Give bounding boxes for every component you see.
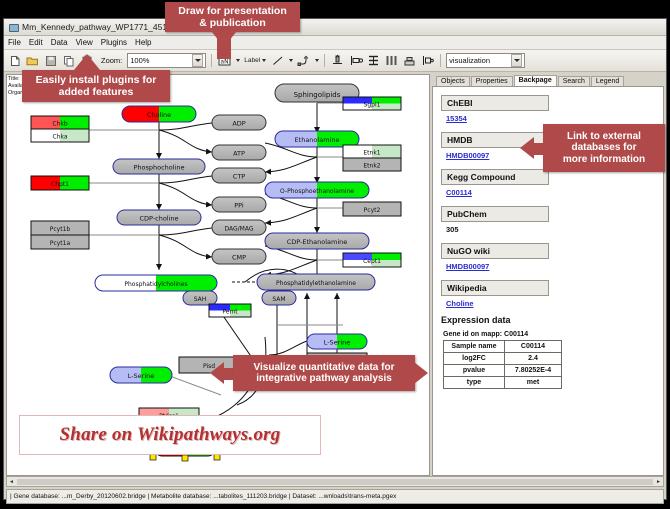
share-banner: Share on Wikipathways.org [19, 415, 321, 455]
expr-key-pvalue: pvalue [444, 365, 505, 377]
menu-item-plugins[interactable]: Plugins [101, 38, 127, 47]
visualization-value: visualization [449, 56, 490, 65]
node-adp[interactable]: ADP [212, 115, 266, 130]
node-cdp-choline[interactable]: CDP-choline [117, 210, 201, 225]
node-o-phosphoethanolamine[interactable]: O-Phosphoethanolamine [265, 182, 369, 198]
svg-text:Chpt1: Chpt1 [51, 181, 69, 188]
db-link-nugo[interactable]: HMDB00097 [446, 262, 655, 271]
open-folder-icon[interactable] [25, 53, 40, 68]
node-phosphatidylcholines[interactable]: Phosphatidylcholines [95, 275, 217, 291]
pathvisio-icon [8, 22, 18, 32]
visualization-chevron-icon[interactable] [511, 54, 522, 67]
svg-text:Phosphocholine: Phosphocholine [133, 164, 184, 172]
plugins-callout-arrow-icon [74, 54, 100, 70]
svg-text:Cept1: Cept1 [363, 258, 381, 265]
svg-text:Sgpl1: Sgpl1 [364, 102, 381, 109]
svg-text:CMP: CMP [232, 254, 246, 262]
gene-box-pcyt1b-pcyt1a[interactable]: Pcyt1b Pcyt1a [31, 221, 89, 249]
node-sam[interactable]: SAM [262, 291, 296, 305]
svg-text:Sphingolipids: Sphingolipids [294, 91, 341, 99]
save-icon[interactable] [43, 53, 58, 68]
label-tool-button[interactable]: Label [243, 57, 267, 64]
expression-data-heading: Expression data [441, 315, 655, 325]
links-callout-line2: databases for [563, 142, 645, 154]
expr-value-type: met [505, 377, 562, 389]
expr-value-pvalue: 7.80252E-4 [505, 365, 562, 377]
links-callout-line3: more information [563, 154, 645, 166]
line-tool-icon[interactable] [270, 53, 285, 68]
draw-callout: Draw for presentation & publication [165, 2, 300, 32]
stack-vertical-icon[interactable] [366, 53, 381, 68]
draw-callout-arrow-icon [211, 31, 237, 47]
table-row: log2FC 2.4 [444, 353, 562, 365]
links-callout-arrow-icon [520, 137, 534, 159]
scroll-right-icon[interactable]: ► [654, 478, 663, 485]
visualize-callout-arrow-right-icon [414, 362, 428, 384]
svg-text:Pcyt1b: Pcyt1b [50, 226, 71, 233]
zoom-value: 100% [130, 56, 149, 65]
svg-text:SAM: SAM [272, 296, 285, 303]
datanode-chevron-icon[interactable] [236, 59, 240, 62]
svg-text:PPi: PPi [234, 202, 244, 210]
plugins-callout-line1: Easily install plugins for [36, 74, 157, 86]
draw-callout-line2: & publication [178, 17, 287, 29]
zoom-label: Zoom: [101, 56, 122, 65]
menu-bar: File Edit Data View Plugins Help [4, 36, 666, 50]
menu-item-help[interactable]: Help [135, 38, 151, 47]
label-tool-text: Label [244, 57, 260, 64]
distribute-horizontal-icon[interactable] [384, 53, 399, 68]
table-row: type met [444, 377, 562, 389]
svg-text:Pcyt1a: Pcyt1a [50, 240, 71, 247]
toolbar-separator [211, 54, 212, 67]
title-bar: Mm_Kennedy_pathway_WP1771_45176.gpml [4, 19, 666, 36]
svg-text:Choline: Choline [147, 111, 171, 119]
gene-box-etnk1-etnk2[interactable]: Etnk1 Etnk2 [343, 145, 401, 171]
gene-box-chpt1[interactable]: Chpt1 [31, 176, 89, 190]
svg-text:Phosphatidylethanolamine: Phosphatidylethanolamine [276, 280, 356, 287]
canvas-hscrollbar[interactable]: ◄ ► [6, 476, 664, 487]
svg-text:L-Serine: L-Serine [128, 372, 155, 380]
svg-text:O-Phosphoethanolamine: O-Phosphoethanolamine [280, 188, 354, 195]
menu-item-view[interactable]: View [76, 38, 93, 47]
svg-text:L-Serine: L-Serine [324, 339, 351, 347]
visualize-callout-line2: integrative pathway analysis [254, 373, 395, 385]
svg-text:CTP: CTP [233, 173, 246, 181]
node-sah[interactable]: SAH [183, 291, 217, 305]
expr-key-sample-name: Sample name [444, 341, 505, 353]
menu-item-file[interactable]: File [8, 38, 21, 47]
plugins-callout-line2: added features [36, 86, 157, 98]
zoom-combobox[interactable]: 100% [127, 53, 206, 68]
pathway-canvas[interactable]: Title: Availa Organi [6, 74, 430, 476]
gene-box-sgpl1[interactable]: Sgpl1 [343, 97, 401, 110]
svg-text:ATP: ATP [233, 150, 245, 158]
node-atp[interactable]: ATP [212, 145, 266, 160]
svg-text:Pcyt2: Pcyt2 [364, 207, 381, 214]
visualize-callout-arrow-left-icon [210, 362, 224, 384]
svg-text:SAH: SAH [194, 296, 207, 303]
db-header-kegg: Kegg Compound [441, 169, 549, 185]
new-file-icon[interactable] [7, 53, 22, 68]
order-icon[interactable] [420, 53, 435, 68]
status-bar-text: | Gene database: ...m_Derby_20120602.bri… [10, 493, 396, 500]
svg-text:Etnk1: Etnk1 [363, 150, 380, 157]
db-link-kegg[interactable]: C00114 [446, 188, 655, 197]
node-ctp[interactable]: CTP [212, 168, 266, 183]
node-phosphatidylethanolamine[interactable]: Phosphatidylethanolamine [257, 274, 375, 290]
node-ppi[interactable]: PPi [212, 197, 266, 212]
svg-text:ADP: ADP [232, 120, 245, 128]
svg-text:CDP-choline: CDP-choline [139, 215, 178, 223]
svg-text:Chkb: Chkb [52, 121, 67, 128]
tab-legend[interactable]: Legend [591, 76, 624, 86]
expr-key-log2fc: log2FC [444, 353, 505, 365]
tab-objects[interactable]: Objects [436, 76, 470, 86]
db-value-pubchem: 305 [446, 225, 655, 234]
plugins-callout: Easily install plugins for added feature… [22, 70, 170, 102]
expr-value-sample-name: C00114 [505, 341, 562, 353]
toolbar-separator-3 [440, 54, 441, 67]
table-row: Sample name C00114 [444, 341, 562, 353]
svg-text:Chka: Chka [52, 134, 67, 141]
expression-table: Sample name C00114 log2FC 2.4 pvalue 7.8… [443, 340, 562, 389]
group-icon[interactable] [402, 53, 417, 68]
status-bar: | Gene database: ...m_Derby_20120602.bri… [6, 489, 664, 504]
db-link-chebi[interactable]: 15354 [446, 114, 655, 123]
db-header-wikipedia: Wikipedia [441, 280, 549, 296]
svg-text:Phosphatidylcholines: Phosphatidylcholines [124, 281, 187, 288]
expr-key-type: type [444, 377, 505, 389]
interaction-tool-icon[interactable] [296, 53, 311, 68]
share-banner-text: Share on Wikipathways.org [60, 424, 281, 446]
menu-item-edit[interactable]: Edit [29, 38, 43, 47]
node-cdp-ethanolamine[interactable]: CDP-Ethanolamine [265, 233, 369, 249]
svg-text:DAG/MAG: DAG/MAG [224, 226, 253, 233]
svg-text:Pemt: Pemt [222, 309, 238, 316]
node-l-serine-left[interactable]: L-Serine [110, 367, 172, 383]
svg-text:Ethanolamine: Ethanolamine [295, 136, 340, 144]
table-row: pvalue 7.80252E-4 [444, 365, 562, 377]
node-l-serine-right[interactable]: L-Serine [307, 334, 367, 349]
tab-backpage[interactable]: Backpage [514, 75, 557, 86]
svg-text:CDP-Ethanolamine: CDP-Ethanolamine [287, 238, 348, 246]
line-chevron-icon[interactable] [289, 59, 293, 62]
gene-box-chkb-chka[interactable]: Chkb Chka [31, 116, 89, 142]
node-dag-mag[interactable]: DAG/MAG [212, 220, 266, 235]
toolbar: Zoom: 100% aN Label [4, 50, 666, 72]
tab-search[interactable]: Search [558, 76, 590, 86]
node-cmp[interactable]: CMP [212, 249, 266, 264]
gene-box-cept1[interactable]: Cept1 [343, 253, 401, 267]
node-phosphocholine[interactable]: Phosphocholine [113, 159, 205, 174]
db-header-pubchem: PubChem [441, 206, 549, 222]
menu-item-data[interactable]: Data [51, 38, 68, 47]
tab-properties[interactable]: Properties [471, 76, 513, 86]
db-link-wikipedia[interactable]: Choline [446, 299, 655, 308]
side-panel-tabs: Objects Properties Backpage Search Legen… [432, 74, 664, 86]
draw-callout-line1: Draw for presentation [178, 5, 287, 17]
chevron-down-icon[interactable] [192, 54, 203, 67]
links-callout: Link to external databases for more info… [543, 124, 665, 172]
interaction-chevron-icon[interactable] [315, 59, 319, 62]
node-choline-top[interactable]: Choline [122, 106, 196, 122]
visualization-combobox[interactable]: visualization [446, 53, 525, 68]
scroll-left-icon[interactable]: ◄ [7, 478, 16, 485]
visualize-callout: Visualize quantitative data for integrat… [233, 355, 415, 391]
align-left-icon[interactable] [348, 53, 363, 68]
links-callout-line1: Link to external [563, 131, 645, 143]
gene-box-pcyt2[interactable]: Pcyt2 [343, 202, 401, 216]
toolbar-separator-2 [324, 54, 325, 67]
expr-value-log2fc: 2.4 [505, 353, 562, 365]
label-chevron-icon[interactable] [262, 59, 266, 62]
gene-box-pemt[interactable]: Pemt [209, 304, 251, 317]
align-top-icon[interactable] [330, 53, 345, 68]
scroll-thumb[interactable] [17, 479, 653, 485]
gene-id-on-mapp: Gene id on mapp: C00114 [443, 331, 655, 338]
db-header-nugo: NuGO wiki [441, 243, 549, 259]
svg-text:Etnk2: Etnk2 [363, 163, 380, 170]
visualize-callout-line1: Visualize quantitative data for [254, 362, 395, 374]
db-header-chebi: ChEBI [441, 95, 549, 111]
